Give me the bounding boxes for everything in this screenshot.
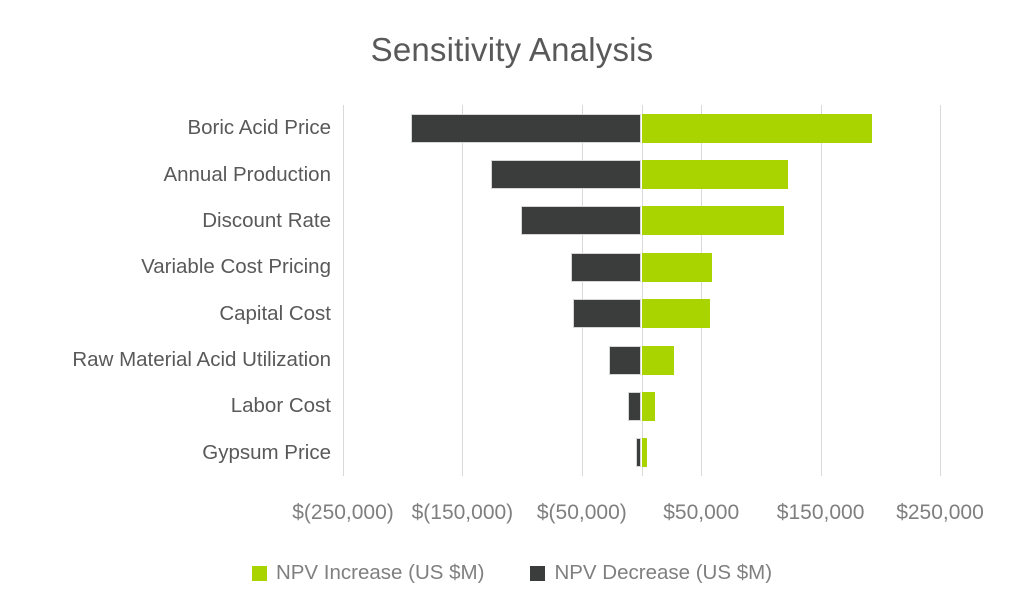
x-tick-label: $(50,000) bbox=[537, 498, 627, 528]
bar-npv-decrease bbox=[628, 392, 641, 421]
sensitivity-analysis-chart: Sensitivity Analysis Boric Acid PriceAnn… bbox=[0, 0, 1024, 614]
bar-npv-decrease bbox=[609, 346, 641, 375]
x-tick-label: $(150,000) bbox=[412, 498, 514, 528]
bar-npv-increase bbox=[642, 206, 784, 235]
x-tick-label: $50,000 bbox=[663, 498, 739, 528]
bar-npv-decrease bbox=[491, 160, 641, 189]
x-tick-label: $250,000 bbox=[896, 498, 984, 528]
category-label: Boric Acid Price bbox=[0, 116, 331, 140]
bar-npv-increase bbox=[642, 346, 674, 375]
chart-title: Sensitivity Analysis bbox=[0, 30, 1024, 70]
x-axis-tick-labels: $(250,000)$(150,000)$(50,000)$50,000$150… bbox=[0, 498, 1024, 532]
bar-npv-decrease bbox=[571, 253, 641, 282]
x-tick-label: $(250,000) bbox=[292, 498, 394, 528]
legend-swatch-icon bbox=[530, 566, 545, 581]
bar-npv-increase bbox=[642, 299, 710, 328]
legend-label: NPV Increase (US $M) bbox=[276, 561, 484, 585]
legend-item[interactable]: NPV Increase (US $M) bbox=[252, 561, 484, 585]
gridline bbox=[940, 105, 941, 476]
bar-npv-increase bbox=[642, 253, 712, 282]
x-tick-label: $150,000 bbox=[777, 498, 865, 528]
bar-npv-decrease bbox=[573, 299, 641, 328]
bar-npv-increase bbox=[642, 392, 655, 421]
bar-npv-decrease bbox=[411, 114, 641, 143]
category-label: Gypsum Price bbox=[0, 441, 331, 465]
legend-item[interactable]: NPV Decrease (US $M) bbox=[530, 561, 772, 585]
bar-npv-increase bbox=[642, 438, 648, 467]
category-label: Labor Cost bbox=[0, 394, 331, 418]
category-label: Variable Cost Pricing bbox=[0, 255, 331, 279]
legend-label: NPV Decrease (US $M) bbox=[554, 561, 772, 585]
category-label: Annual Production bbox=[0, 163, 331, 187]
bar-npv-decrease bbox=[521, 206, 642, 235]
bar-npv-increase bbox=[642, 160, 789, 189]
category-label: Capital Cost bbox=[0, 302, 331, 326]
chart-legend: NPV Increase (US $M)NPV Decrease (US $M) bbox=[0, 556, 1024, 590]
legend-swatch-icon bbox=[252, 566, 267, 581]
plot-area bbox=[343, 105, 940, 476]
category-axis-labels: Boric Acid PriceAnnual ProductionDiscoun… bbox=[0, 105, 331, 476]
bars-layer bbox=[343, 105, 940, 476]
bar-npv-increase bbox=[642, 114, 872, 143]
category-label: Raw Material Acid Utilization bbox=[0, 348, 331, 372]
category-label: Discount Rate bbox=[0, 209, 331, 233]
